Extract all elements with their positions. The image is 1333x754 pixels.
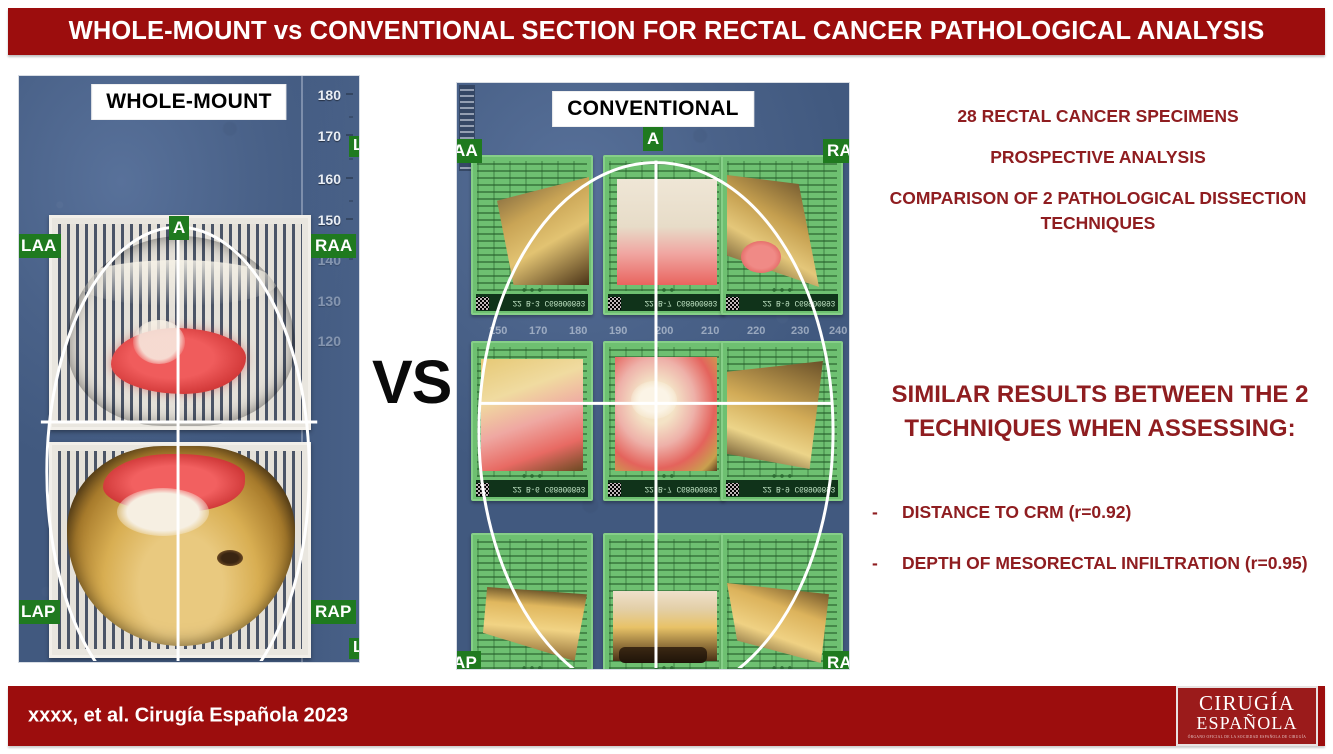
- hruler-number: 210: [701, 325, 719, 337]
- cassette-r1c2: 22 B-7 C68900893: [603, 155, 725, 315]
- cassette-id: C68900893: [676, 484, 717, 493]
- cassette-code: 22 B-9: [762, 484, 789, 493]
- header-bar: WHOLE-MOUNT vs CONVENTIONAL SECTION FOR …: [8, 8, 1325, 55]
- cassette-r2c1: 22 B-6 C68900893: [471, 341, 593, 501]
- cassette-label: 22 B-6 C68900893: [476, 480, 588, 497]
- qr-code-icon: [476, 297, 489, 310]
- cassette-r2c3: 22 B-9 C68900893: [721, 341, 843, 501]
- qr-code-icon: [726, 483, 739, 496]
- journal-logo-subtitle: ÓRGANO OFICIAL DE LA SOCIEDAD ESPAÑOLA D…: [1188, 735, 1306, 739]
- photo-whole-mount: 180 170 160 150 140 130 120: [18, 75, 360, 663]
- mucosa-highlight: [133, 320, 185, 364]
- bullet-dash: -: [872, 500, 902, 525]
- ruler-number-150: 150: [318, 213, 341, 227]
- tag-a: A: [643, 127, 663, 151]
- ruler-tick: [349, 116, 353, 118]
- page-title: WHOLE-MOUNT vs CONVENTIONAL SECTION FOR …: [69, 19, 1265, 45]
- cassette-code: 22 B-9: [762, 298, 789, 307]
- tag-ra-bottom: RA: [823, 651, 850, 670]
- cassette-dots: [519, 288, 545, 292]
- tissue-fragment: [727, 361, 823, 469]
- journal-logo-line1: CIRUGÍA: [1199, 693, 1295, 714]
- cassette-id: C68900893: [544, 484, 585, 493]
- tag-laa: LAA: [18, 234, 61, 258]
- cassette-dots: [651, 288, 677, 292]
- mucosa-highlight: [631, 381, 677, 419]
- cassette-label: 22 B-7 C68900893: [608, 294, 720, 311]
- tag-a: A: [169, 216, 189, 240]
- ruler-tick: [346, 218, 353, 220]
- footer-citation: xxxx, et al. Cirugía Española 2023: [28, 705, 348, 728]
- cassette-r1c1: 22 B-3 C68900893: [471, 155, 593, 315]
- findings-bullet-list: - DISTANCE TO CRM (r=0.92) - DEPTH OF ME…: [872, 500, 1332, 602]
- versus-label: VS: [372, 352, 451, 413]
- ruler-tick: [346, 93, 353, 95]
- tag-l-bottom: L: [349, 638, 360, 659]
- tag-raa: RAA: [311, 234, 356, 258]
- ruler-number-160: 160: [318, 172, 341, 186]
- journal-logo: CIRUGÍA ESPAÑOLA ÓRGANO OFICIAL DE LA SO…: [1176, 686, 1318, 746]
- text-specimens: 28 RECTAL CANCER SPECIMENS: [878, 106, 1318, 127]
- caption-conventional: CONVENTIONAL: [552, 91, 754, 127]
- text-prospective-analysis: PROSPECTIVE ANALYSIS: [878, 147, 1318, 168]
- cassette-r3c2: C68900893: [603, 533, 725, 670]
- qr-code-icon: [608, 297, 621, 310]
- slide-root: WHOLE-MOUNT vs CONVENTIONAL SECTION FOR …: [0, 0, 1333, 754]
- hruler-number: 230: [791, 325, 809, 337]
- hruler-number: 170: [529, 325, 547, 337]
- ruler-tick: [349, 258, 353, 260]
- cassette-r3c1: C68900893: [471, 533, 593, 670]
- cassette-label: 22 B-3 C68900893: [476, 294, 588, 311]
- tissue-fragment: [481, 359, 583, 471]
- cassette-id: C68900893: [794, 484, 835, 493]
- hruler-number: 180: [569, 325, 587, 337]
- cassette-label: 22 B-9 C68900893: [726, 294, 838, 311]
- cassette-r2c2: 22 B-7 C68900893: [603, 341, 725, 501]
- hruler-number: 200: [655, 325, 673, 337]
- cassette-id: C68900893: [544, 298, 585, 307]
- mucosa-highlight: [117, 488, 209, 536]
- tag-ap: AP: [456, 651, 481, 670]
- ruler-number-130: 130: [318, 294, 341, 308]
- cassette-dots: [519, 666, 545, 670]
- text-similar-results: SIMILAR RESULTS BETWEEN THE 2 TECHNIQUES…: [880, 378, 1320, 446]
- cassette-code: 22 B-6: [512, 484, 539, 493]
- cassette-code: 22 B-7: [644, 298, 671, 307]
- ruler-tick: [349, 158, 353, 160]
- cassette-id: C68900893: [676, 298, 717, 307]
- cassette-dots: [651, 474, 677, 478]
- cassette-r1c3: 22 B-9 C68900893: [721, 155, 843, 315]
- cassette-label: 22 B-7 C68900893: [608, 480, 720, 497]
- text-comparison-techniques: COMPARISON OF 2 PATHOLOGICAL DISSECTION …: [868, 186, 1328, 236]
- journal-logo-line2: ESPAÑOLA: [1196, 714, 1297, 733]
- ruler-number-180: 180: [318, 88, 341, 102]
- ruler-number-120: 120: [318, 334, 341, 348]
- hruler-number: 150: [489, 325, 507, 337]
- bullet-item-depth: - DEPTH OF MESORECTAL INFILTRATION (r=0.…: [872, 551, 1332, 576]
- specimen-top-sheen: [77, 260, 277, 306]
- qr-code-icon: [726, 297, 739, 310]
- bullet-item-crm: - DISTANCE TO CRM (r=0.92): [872, 500, 1332, 525]
- cassette-code: 22 B-7: [644, 484, 671, 493]
- bullet-text: DEPTH OF MESORECTAL INFILTRATION (r=0.95…: [902, 551, 1332, 576]
- tag-l-top: L: [349, 136, 360, 157]
- tag-rap: RAP: [311, 600, 356, 624]
- tag-ra: RA: [823, 139, 850, 163]
- cassette-dots: [519, 474, 545, 478]
- cassette-r3c3: C68900893: [721, 533, 843, 670]
- hruler-number: 220: [747, 325, 765, 337]
- qr-code-icon: [608, 483, 621, 496]
- hruler-number: 240: [829, 325, 847, 337]
- cassette-dots: [769, 474, 795, 478]
- cassette-dots: [769, 666, 795, 670]
- cassette-dots: [769, 288, 795, 292]
- bullet-dash: -: [872, 551, 902, 576]
- ruler-number-170: 170: [318, 129, 341, 143]
- caption-whole-mount: WHOLE-MOUNT: [91, 84, 286, 120]
- ruler-tick: [346, 177, 353, 179]
- hruler-number: 190: [609, 325, 627, 337]
- footer-bar: xxxx, et al. Cirugía Española 2023 CIRUG…: [8, 686, 1325, 746]
- tissue-fragment: [617, 179, 717, 285]
- horizontal-ruler: 150 170 180 190 200 210 220 230 240: [457, 323, 849, 341]
- tumor-region: [741, 241, 781, 273]
- bullet-text: DISTANCE TO CRM (r=0.92): [902, 500, 1332, 525]
- cassette-id: C68900893: [794, 298, 835, 307]
- cassette-dots: [651, 666, 677, 670]
- ruler-tick: [349, 200, 353, 202]
- tissue-margin-ink: [619, 647, 707, 663]
- lymph-node: [217, 550, 243, 566]
- cassette-label: 22 B-9 C68900893: [726, 480, 838, 497]
- tag-lap: LAP: [18, 600, 60, 624]
- tag-aa: AA: [456, 139, 482, 163]
- qr-code-icon: [476, 483, 489, 496]
- cassette-code: 22 B-3: [512, 298, 539, 307]
- photo-conventional: 22 B-3 C68900893 22 B-7 C68900893 22: [456, 82, 850, 670]
